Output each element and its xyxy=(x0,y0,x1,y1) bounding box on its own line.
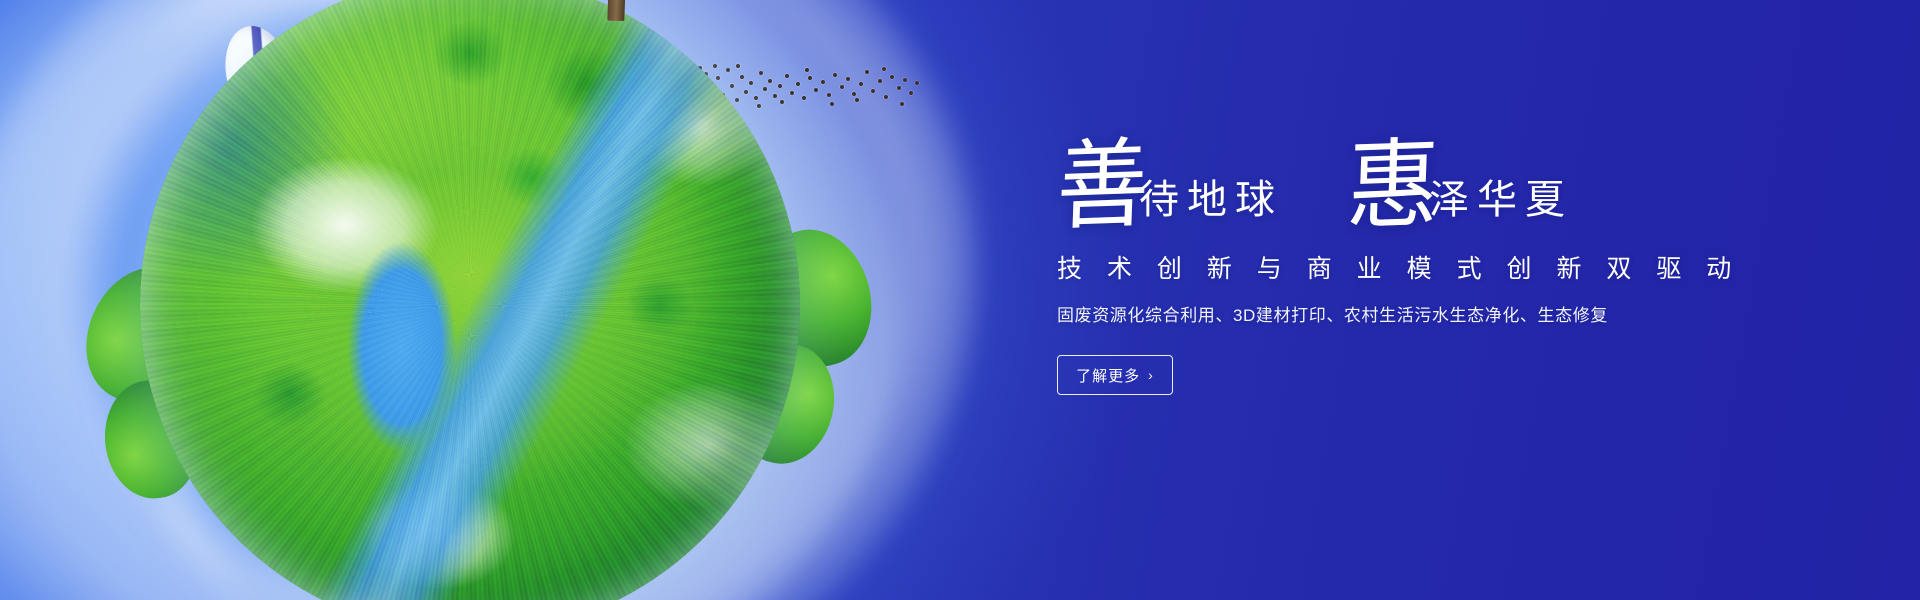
bird-icon xyxy=(909,91,913,95)
bird-icon xyxy=(805,68,809,72)
headline-big-char-two: 惠 xyxy=(1345,136,1441,237)
bird-icon xyxy=(808,76,812,80)
tagline: 固废资源化综合利用、3D建材打印、农村生活污水生态净化、生态修复 xyxy=(1057,303,1817,329)
bird-icon xyxy=(846,77,850,81)
bird-icon xyxy=(903,78,907,82)
bird-icon xyxy=(840,85,844,89)
headline: 善待地球 惠泽华夏 xyxy=(1057,140,1817,236)
chevron-right-icon: › xyxy=(1148,368,1154,382)
headline-small-chars-two: 泽华夏 xyxy=(1429,180,1573,220)
bird-icon xyxy=(859,82,863,86)
bird-icon xyxy=(878,79,882,83)
bird-icon xyxy=(802,96,806,100)
bird-icon xyxy=(884,95,888,99)
headline-phrase-two: 惠泽华夏 xyxy=(1347,140,1583,232)
bird-icon xyxy=(915,81,919,85)
bird-icon xyxy=(814,88,818,92)
bird-icon xyxy=(821,80,825,84)
bird-icon xyxy=(900,102,904,106)
hero-banner: 善待地球 惠泽华夏 技 术 创 新 与 商 业 模 式 创 新 双 驱 动 固废… xyxy=(0,0,1920,600)
planet-sphere xyxy=(140,0,800,600)
learn-more-label: 了解更多 xyxy=(1076,365,1140,386)
subtitle: 技 术 创 新 与 商 业 模 式 创 新 双 驱 动 xyxy=(1057,252,1817,286)
bird-icon xyxy=(852,92,856,96)
headline-small-chars-one: 待地球 xyxy=(1139,180,1283,220)
bird-icon xyxy=(897,86,901,90)
bird-icon xyxy=(865,70,869,74)
planet-rim-light xyxy=(140,0,800,600)
green-planet-illustration xyxy=(140,0,800,600)
bird-icon xyxy=(830,102,834,106)
bird-icon xyxy=(827,93,831,97)
bird-icon xyxy=(871,89,875,93)
bird-icon xyxy=(890,75,894,79)
banner-copy: 善待地球 惠泽华夏 技 术 创 新 与 商 业 模 式 创 新 双 驱 动 固废… xyxy=(1057,140,1817,395)
learn-more-button[interactable]: 了解更多 › xyxy=(1057,355,1173,395)
bird-icon xyxy=(882,67,886,71)
headline-big-char-one: 善 xyxy=(1055,136,1151,237)
bird-icon xyxy=(833,73,837,77)
bird-icon xyxy=(855,98,859,102)
headline-phrase-one: 善待地球 xyxy=(1057,140,1293,232)
